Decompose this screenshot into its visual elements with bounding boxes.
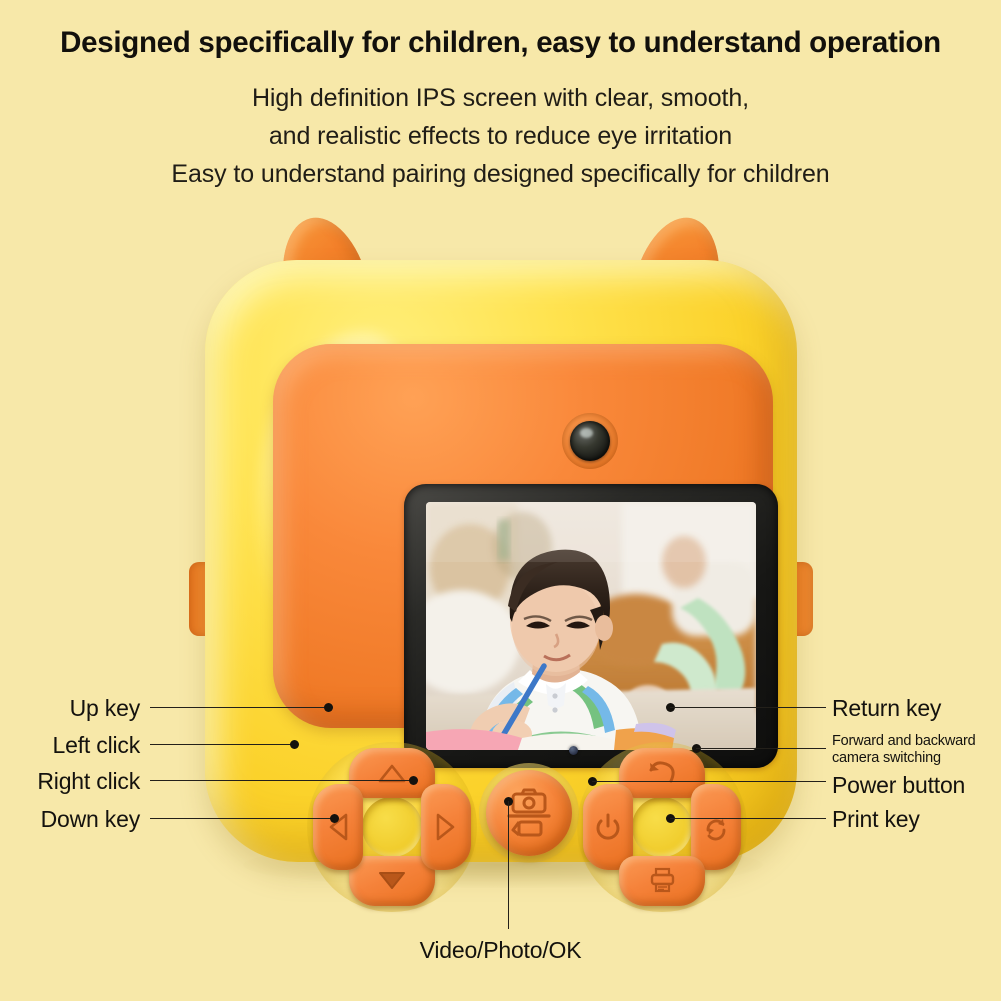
return-arrow-icon — [645, 759, 679, 787]
leader-line-camera-switch — [696, 748, 826, 749]
callout-label-print-key: Print key — [832, 806, 920, 833]
callout-label-up-key: Up key — [0, 695, 140, 722]
shutter-ring — [479, 763, 579, 863]
lens-glass — [570, 421, 610, 461]
camera-faceplate — [273, 344, 773, 728]
leader-line-right-click — [150, 780, 413, 781]
leader-line-left-click — [150, 744, 294, 745]
kids-camera-illustration — [183, 214, 819, 894]
screen-bezel — [404, 484, 778, 768]
camera-switch-button[interactable] — [691, 784, 741, 870]
leader-line-shutter — [508, 801, 509, 929]
leader-dot-up-key — [324, 703, 333, 712]
leader-line-down-key — [150, 818, 334, 819]
camera-screen — [426, 502, 756, 750]
dpad-cluster — [307, 742, 477, 912]
power-icon — [595, 812, 621, 842]
infographic-canvas: Designed specifically for children, easy… — [0, 0, 1001, 1001]
camera-switch-icon — [701, 812, 731, 842]
printer-icon — [645, 867, 679, 895]
leader-line-return-key — [670, 707, 826, 708]
leader-line-up-key — [150, 707, 328, 708]
subtitle-line-3: Easy to understand pairing designed spec… — [0, 160, 1001, 189]
page-title: Designed specifically for children, easy… — [0, 26, 1001, 60]
screen-photo — [426, 502, 756, 750]
leader-dot-right-click — [409, 776, 418, 785]
function-cluster — [577, 742, 747, 912]
callout-label-right-click: Right click — [0, 768, 140, 795]
led-indicator — [569, 746, 578, 755]
camera-lens-icon — [562, 413, 618, 469]
lens-highlight — [580, 428, 593, 438]
callout-label-left-click: Left click — [0, 732, 140, 759]
callout-label-power-button: Power button — [832, 772, 965, 799]
callout-label-shutter: Video/Photo/OK — [0, 937, 1001, 964]
dpad-right-button[interactable] — [421, 784, 471, 870]
function-center-rest — [632, 797, 692, 857]
dpad-left-button[interactable] — [313, 784, 363, 870]
triangle-down-icon — [377, 871, 407, 891]
dpad-down-button[interactable] — [349, 856, 435, 906]
print-button[interactable] — [619, 856, 705, 906]
leader-dot-down-key — [330, 814, 339, 823]
subtitle-line-2: and realistic effects to reduce eye irri… — [0, 122, 1001, 151]
camera-body-shell — [205, 260, 797, 862]
subtitle-line-1: High definition IPS screen with clear, s… — [0, 84, 1001, 113]
leader-line-power-button — [592, 781, 826, 782]
callout-label-camera-switch: Forward and backward camera switching — [832, 733, 982, 766]
shutter-button[interactable] — [486, 770, 572, 856]
power-button[interactable] — [583, 784, 633, 870]
dpad-center-rest — [362, 797, 422, 857]
callout-label-return-key: Return key — [832, 695, 941, 722]
dpad-up-button[interactable] — [349, 748, 435, 798]
callout-label-down-key: Down key — [0, 806, 140, 833]
triangle-right-icon — [436, 812, 456, 842]
leader-line-print-key — [670, 818, 826, 819]
leader-dot-left-click — [290, 740, 299, 749]
camera-video-icon — [503, 786, 555, 840]
return-button[interactable] — [619, 748, 705, 798]
